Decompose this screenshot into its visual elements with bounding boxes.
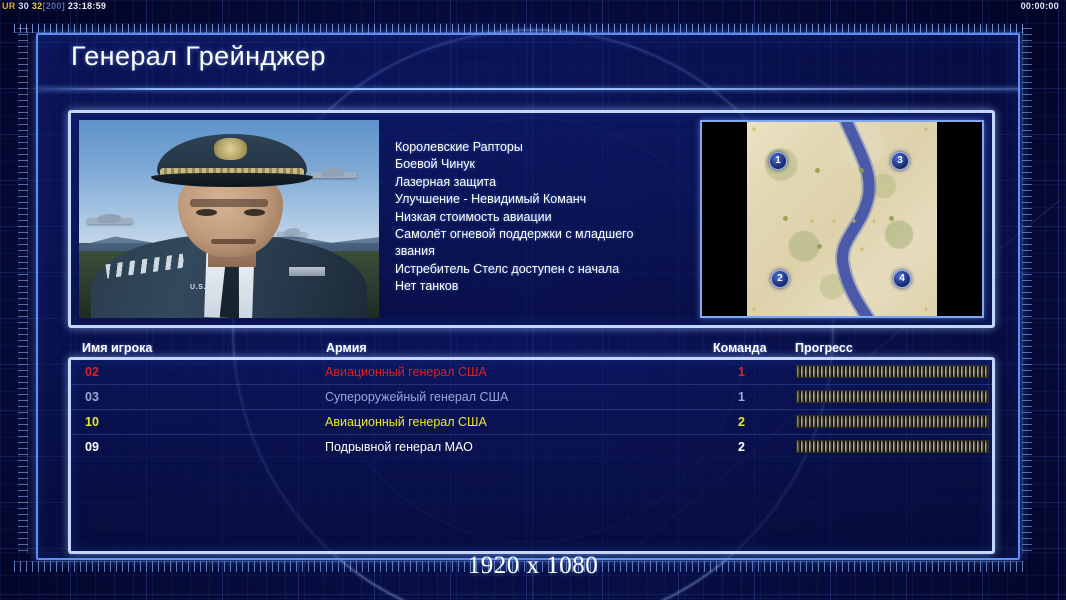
player-name: 02 <box>85 360 99 384</box>
column-header-army: Армия <box>326 341 367 355</box>
ability-item: Королевские Рапторы <box>395 139 695 156</box>
column-header-progress: Прогресс <box>795 341 853 355</box>
officer-figure: U.S. <box>79 120 379 318</box>
officer-eye-right <box>244 209 265 216</box>
map-start-position-2[interactable]: 2 <box>771 270 789 288</box>
player-team: 1 <box>738 360 745 384</box>
status-bracket: [200] <box>42 1 65 11</box>
map-start-position-1[interactable]: 1 <box>769 152 787 170</box>
ability-item: Лазерная защита <box>395 174 695 191</box>
ability-item: Самолёт огневой поддержки с младшего <box>395 226 695 243</box>
status-value-2: 32 <box>32 1 43 11</box>
player-team: 2 <box>738 435 745 459</box>
officer-brow <box>190 199 268 207</box>
officer-mouth <box>211 239 256 244</box>
ability-item: Истребитель Стелс доступен с начала <box>395 261 695 278</box>
ruler-right <box>1022 28 1032 554</box>
page-title: Генерал Грейнджер <box>71 41 326 72</box>
table-row[interactable]: 09Подрывной генерал МАО2 <box>71 435 992 459</box>
map-prop-icon <box>859 168 864 173</box>
player-name: 03 <box>85 385 99 409</box>
map-start-position-4[interactable]: 4 <box>893 270 911 288</box>
player-army: Авиационный генерал США <box>325 410 487 434</box>
general-abilities-list: Королевские Рапторы Боевой Чинук Лазерна… <box>395 139 695 296</box>
player-list-panel: 02Авиационный генерал США103Супероружейн… <box>68 357 995 554</box>
us-insignia-icon: U.S. <box>190 284 206 291</box>
player-rows-host: 02Авиационный генерал США103Супероружейн… <box>71 360 992 459</box>
officer-eye-left <box>196 209 217 216</box>
ability-item: Низкая стоимость авиации <box>395 209 695 226</box>
status-value-1: 30 <box>18 1 29 11</box>
status-bar-right: 00:00:00 <box>1021 1 1059 11</box>
title-bar: Генерал Грейнджер <box>36 40 1018 84</box>
player-team: 2 <box>738 410 745 434</box>
resolution-label: 1920 x 1080 <box>0 552 1066 580</box>
ruler-top <box>14 24 1024 33</box>
cap-visor <box>151 173 313 187</box>
map-prop-icon <box>815 168 820 173</box>
ribbon-bar-icon <box>289 267 325 277</box>
general-portrait: U.S. <box>79 120 379 318</box>
player-name: 09 <box>85 435 99 459</box>
player-army: Супероружейный генерал США <box>325 385 508 409</box>
player-army: Авиационный генерал США <box>325 360 487 384</box>
map-start-position-3[interactable]: 3 <box>891 152 909 170</box>
cap-eagle-badge-icon <box>214 138 247 160</box>
player-progress-bar <box>796 440 989 453</box>
ability-item: Боевой Чинук <box>395 156 695 173</box>
ability-item: Нет танков <box>395 278 695 295</box>
table-row[interactable]: 02Авиационный генерал США1 <box>71 360 992 384</box>
player-name: 10 <box>85 410 99 434</box>
map-prop-icon <box>817 244 822 249</box>
table-row[interactable]: 10Авиационный генерал США2 <box>71 410 992 434</box>
table-row[interactable]: 03Супероружейный генерал США1 <box>71 385 992 409</box>
player-team: 1 <box>738 385 745 409</box>
player-army: Подрывной генерал МАО <box>325 435 473 459</box>
map-prop-icon <box>783 216 788 221</box>
map-terrain: 1 2 3 4 <box>747 122 937 316</box>
status-clock: 23:18:59 <box>68 1 106 11</box>
game-lobby-screen: UR 30 32[200] 23:18:59 00:00:00 Генерал … <box>0 0 1066 600</box>
column-header-team: Команда <box>713 341 767 355</box>
general-info-panel: U.S. Королевские Рапторы Боевой Чинук Ла… <box>68 110 995 328</box>
ability-item: звания <box>395 243 695 260</box>
player-progress-bar <box>796 390 989 403</box>
map-prop-icon <box>889 216 894 221</box>
status-bar-left: UR 30 32[200] 23:18:59 <box>2 1 106 11</box>
map-preview[interactable]: 1 2 3 4 <box>700 120 984 318</box>
title-divider <box>36 88 1020 90</box>
player-progress-bar <box>796 365 989 378</box>
ability-item: Улучшение - Невидимый Команч <box>395 191 695 208</box>
player-progress-bar <box>796 415 989 428</box>
column-header-name: Имя игрока <box>82 341 152 355</box>
status-prefix: UR <box>2 1 16 11</box>
player-table-headers: Имя игрока Армия Команда Прогресс <box>68 341 995 358</box>
ruler-left <box>18 28 28 554</box>
